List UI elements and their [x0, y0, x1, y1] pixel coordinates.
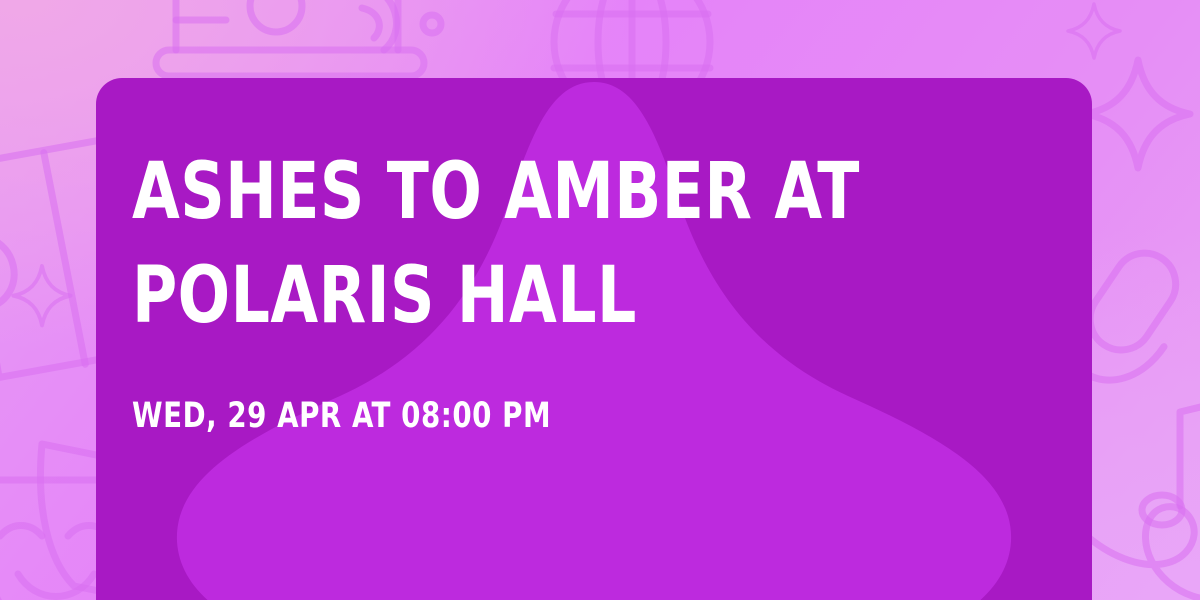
sparkle-icon	[1068, 4, 1120, 58]
music-note-icon	[1142, 396, 1200, 525]
event-title: Ashes to Amber at Polaris Hall	[132, 140, 906, 348]
sparkle-icon	[13, 266, 70, 325]
event-banner: Ashes to Amber at Polaris Hall Wed, 29 A…	[0, 0, 1200, 600]
event-card[interactable]: Ashes to Amber at Polaris Hall Wed, 29 A…	[96, 78, 1092, 600]
confetti-dot-icon	[423, 15, 441, 33]
sparkle-icon	[1086, 60, 1190, 168]
event-date: Wed, 29 Apr at 08:00 PM	[132, 396, 551, 436]
dj-deck-icon	[156, 0, 424, 76]
card-content: Ashes to Amber at Polaris Hall Wed, 29 A…	[132, 78, 1052, 600]
